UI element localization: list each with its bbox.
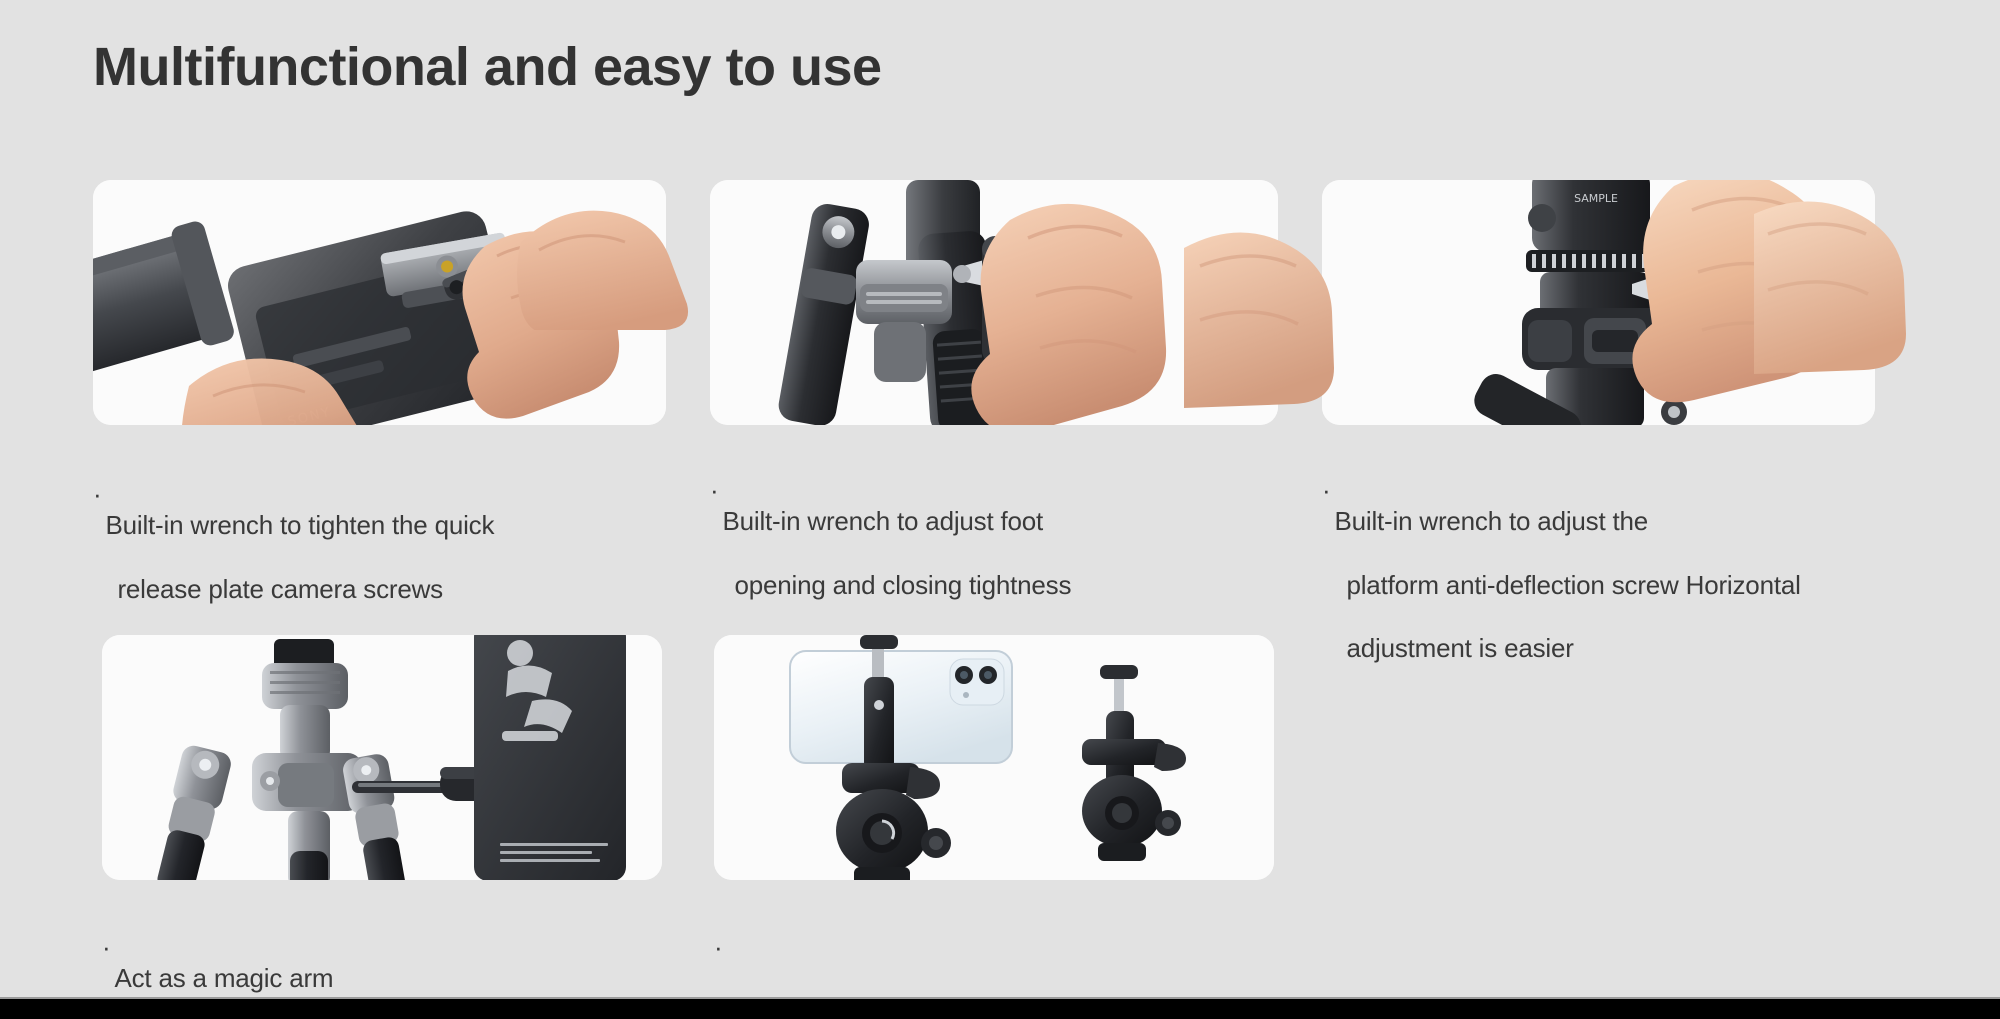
bullet-glyph: · bbox=[93, 479, 101, 511]
feature-caption: · Built-in wrench to adjust foot opening… bbox=[710, 443, 1278, 633]
feature-anti-deflection-screw: SAMPLE bbox=[1322, 180, 1875, 697]
caption-line: adjustment is easier bbox=[1334, 633, 1800, 665]
bullet-glyph: · bbox=[1322, 475, 1330, 507]
feature-caption: · Built-in wrench to tighten the quick r… bbox=[93, 447, 666, 637]
phone-clip-photo bbox=[714, 635, 1274, 880]
svg-text:SAMPLE: SAMPLE bbox=[1574, 192, 1618, 205]
feature-caption: · Built-in wrench to adjust the platform… bbox=[1322, 443, 1875, 697]
caption-line: opening and closing tightness bbox=[722, 570, 1071, 602]
camera-quick-release-photo: SONY bbox=[93, 180, 666, 425]
feature-image-card: SAMPLE bbox=[1322, 180, 1875, 425]
tripod-platform-photo: SAMPLE bbox=[1322, 180, 1875, 425]
caption-line: release plate camera screws bbox=[105, 574, 494, 606]
caption-line: Built-in wrench to tighten the quick bbox=[105, 510, 494, 542]
feature-image-card: Fotopro bbox=[102, 635, 662, 880]
caption-line: Built-in wrench to adjust foot bbox=[722, 506, 1071, 538]
magic-arm-photo: Fotopro bbox=[102, 635, 662, 880]
caption-line: platform anti-deflection screw Horizonta… bbox=[1334, 570, 1800, 602]
bullet-glyph: · bbox=[710, 475, 718, 507]
footer-bar bbox=[0, 999, 2000, 1019]
feature-magic-arm: Fotopro bbox=[102, 635, 662, 1019]
feature-mobile-photography: · Compatible with mobile photography (Th… bbox=[714, 635, 1274, 1019]
feature-image-card: SONY bbox=[93, 180, 666, 425]
caption-line: Built-in wrench to adjust the bbox=[1334, 506, 1800, 538]
feature-image-card bbox=[710, 180, 1278, 425]
caption-line: Act as a magic arm bbox=[114, 963, 626, 995]
feature-foot-opening-tightness: · Built-in wrench to adjust foot opening… bbox=[710, 180, 1278, 633]
bullet-glyph: · bbox=[102, 932, 110, 964]
feature-quick-release-plate: SONY bbox=[93, 180, 666, 637]
page-title: Multifunctional and easy to use bbox=[93, 36, 882, 98]
bullet-glyph: · bbox=[714, 932, 722, 964]
tripod-foot-lock-photo bbox=[710, 180, 1278, 425]
feature-image-card bbox=[714, 635, 1274, 880]
